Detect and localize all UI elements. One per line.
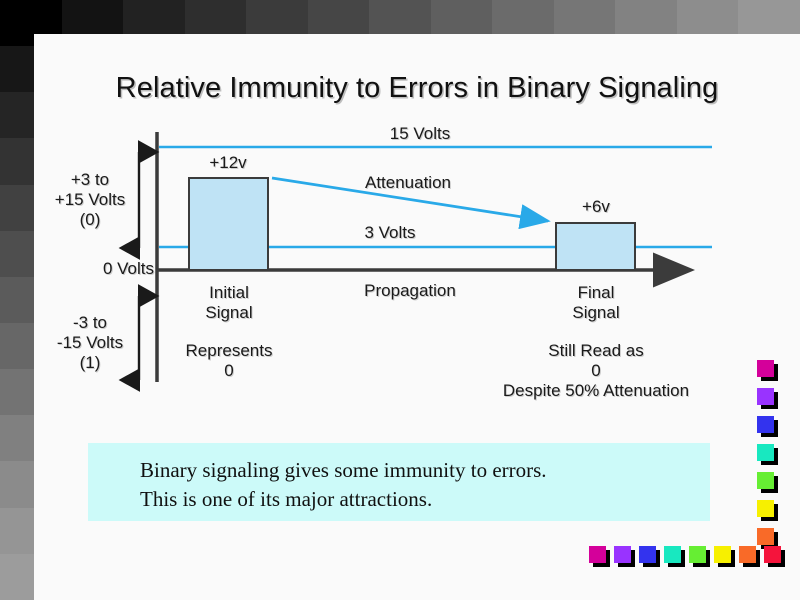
caption-line-2: This is one of its major attractions. — [140, 485, 547, 514]
label-propagation: Propagation — [300, 281, 520, 301]
square-face — [757, 500, 774, 517]
slide-root: Relative Immunity to Errors in Binary Si… — [0, 0, 800, 600]
left-band-block — [0, 46, 34, 92]
top-band-block — [185, 0, 247, 34]
left-band-block — [0, 369, 34, 415]
square-face — [757, 444, 774, 461]
left-band-block — [0, 554, 34, 600]
top-band-block — [615, 0, 677, 34]
bottom-square-5 — [689, 546, 706, 563]
top-band-block — [554, 0, 616, 34]
bottom-square-7 — [739, 546, 756, 563]
left-band-block — [0, 185, 34, 231]
square-face — [757, 388, 774, 405]
square-face — [639, 546, 656, 563]
top-band-block — [308, 0, 370, 34]
square-face — [757, 416, 774, 433]
initial-signal-bar — [188, 177, 269, 271]
square-face — [714, 546, 731, 563]
right-square-1 — [757, 360, 774, 377]
left-band-block — [0, 461, 34, 507]
bottom-square-6 — [714, 546, 731, 563]
bottom-square-4 — [664, 546, 681, 563]
bottom-square-2 — [614, 546, 631, 563]
left-band-block — [0, 138, 34, 184]
caption-line-1: Binary signaling gives some immunity to … — [140, 456, 547, 485]
final-signal-bar — [555, 222, 636, 271]
square-face — [589, 546, 606, 563]
left-band-block — [0, 277, 34, 323]
caption-box: Binary signaling gives some immunity to … — [88, 443, 710, 521]
top-band-block — [62, 0, 124, 34]
right-square-4 — [757, 444, 774, 461]
label-initial-signal: Initial Signal — [178, 283, 280, 323]
top-gradient-band — [0, 0, 800, 34]
label-still-read: Still Read as 0 Despite 50% Attenuation — [480, 341, 712, 401]
label-represents: Represents 0 — [160, 341, 298, 381]
left-band-block — [0, 0, 34, 46]
bottom-square-8 — [764, 546, 781, 563]
top-band-block — [738, 0, 800, 34]
right-square-5 — [757, 472, 774, 489]
bottom-square-3 — [639, 546, 656, 563]
label-attenuation: Attenuation — [318, 173, 498, 193]
left-band-block — [0, 92, 34, 138]
left-band-block — [0, 508, 34, 554]
label-upper-range: +3 to +15 Volts (0) — [44, 170, 136, 230]
square-face — [757, 472, 774, 489]
top-band-block — [246, 0, 308, 34]
label-final-bar-value: +6v — [546, 197, 646, 217]
top-band-block — [369, 0, 431, 34]
top-band-block — [431, 0, 493, 34]
label-3-volts: 3 Volts — [300, 223, 480, 243]
bottom-square-1 — [589, 546, 606, 563]
right-square-6 — [757, 500, 774, 517]
label-initial-bar-value: +12v — [178, 153, 278, 173]
left-band-block — [0, 323, 34, 369]
square-face — [739, 546, 756, 563]
label-lower-range: -3 to -15 Volts (1) — [44, 313, 136, 373]
right-square-7 — [757, 528, 774, 545]
square-face — [664, 546, 681, 563]
left-band-block — [0, 231, 34, 277]
top-band-block — [492, 0, 554, 34]
square-face — [614, 546, 631, 563]
label-zero-volts: 0 Volts — [54, 259, 154, 279]
right-square-2 — [757, 388, 774, 405]
left-gradient-band — [0, 0, 34, 600]
square-face — [689, 546, 706, 563]
square-face — [757, 360, 774, 377]
label-15-volts: 15 Volts — [330, 124, 510, 144]
left-band-block — [0, 415, 34, 461]
top-band-block — [677, 0, 739, 34]
page-title: Relative Immunity to Errors in Binary Si… — [34, 72, 800, 105]
caption-text: Binary signaling gives some immunity to … — [140, 456, 547, 514]
label-final-signal: Final Signal — [545, 283, 647, 323]
square-face — [757, 528, 774, 545]
top-band-block — [123, 0, 185, 34]
square-face — [764, 546, 781, 563]
right-square-3 — [757, 416, 774, 433]
